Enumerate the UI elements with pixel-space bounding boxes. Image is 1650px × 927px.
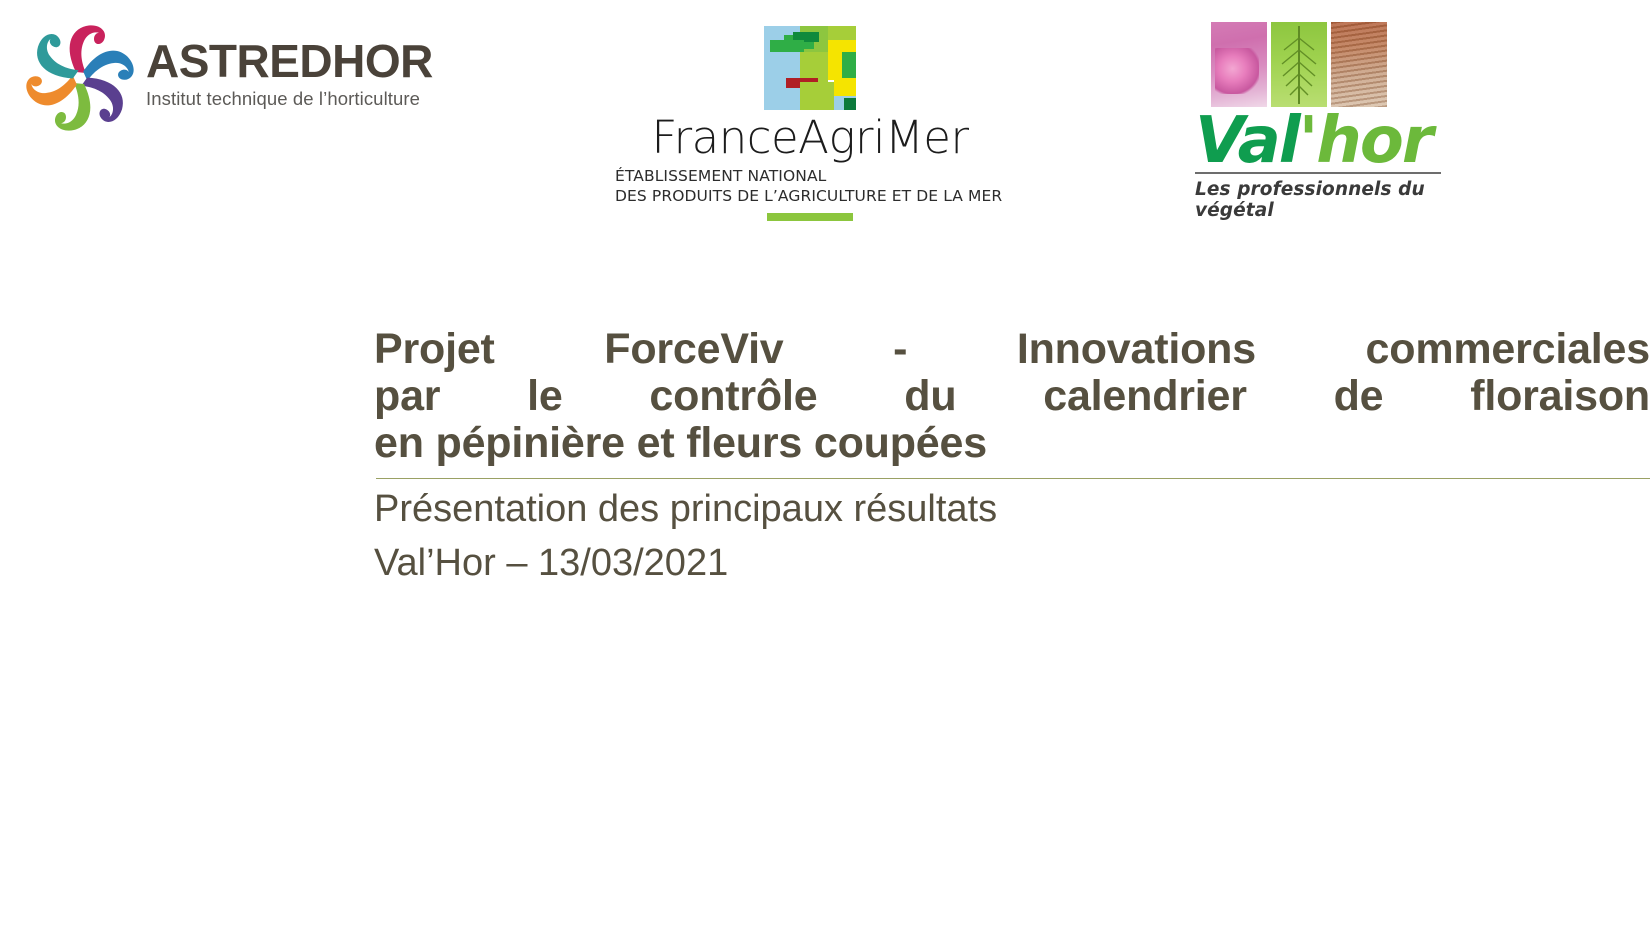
valhor-word-part2: 'hor: [1299, 104, 1432, 178]
flower-panel-icon: [1211, 22, 1267, 107]
logo-band: ASTREDHOR Institut technique de l’hortic…: [0, 0, 1650, 250]
title-block: Projet ForceViv - Innovations commercial…: [374, 326, 1650, 467]
title-line-1: Projet ForceViv - Innovations commercial…: [374, 326, 1650, 373]
title-line-3: en pépinière et fleurs coupées: [374, 420, 1650, 467]
franceagrimer-subtitle-line-1: ÉTABLISSEMENT NATIONAL: [615, 167, 1010, 186]
astredhor-pinwheel-icon: [18, 20, 142, 136]
valhor-word-part1: Val: [1195, 104, 1299, 178]
valhor-logo: Val'hor Les professionnels du végétal: [1195, 22, 1485, 227]
franceagrimer-green-bar: [767, 213, 853, 221]
franceagrimer-subtitle-line-2: DES PRODUITS DE L’AGRICULTURE ET DE LA M…: [615, 187, 1010, 206]
leaf-panel-icon: [1271, 22, 1327, 107]
presentation-slide: ASTREDHOR Institut technique de l’hortic…: [0, 0, 1650, 927]
subtitle-line-2: Val’Hor – 13/03/2021: [374, 536, 1574, 590]
valhor-image-panels: [1211, 22, 1391, 107]
franceagrimer-subtitle: ÉTABLISSEMENT NATIONAL DES PRODUITS DE L…: [610, 167, 1010, 206]
astredhor-wordmark: ASTREDHOR: [146, 38, 456, 84]
astredhor-logo: ASTREDHOR Institut technique de l’hortic…: [18, 18, 458, 128]
title-line-2: par le contrôle du calendrier de florais…: [374, 373, 1650, 420]
franceagrimer-wordmark: FranceAgriMer: [610, 114, 1010, 161]
astredhor-tagline: Institut technique de l’horticulture: [146, 89, 456, 109]
astredhor-text-lockup: ASTREDHOR Institut technique de l’hortic…: [146, 38, 456, 109]
valhor-tagline: Les professionnels du végétal: [1195, 179, 1485, 221]
subtitle-block: Présentation des principaux résultats Va…: [374, 482, 1574, 590]
page-title: Projet ForceViv - Innovations commercial…: [374, 326, 1650, 467]
subtitle-line-1: Présentation des principaux résultats: [374, 482, 1574, 536]
valhor-wordmark: Val'hor: [1195, 109, 1485, 174]
franceagrimer-logo: FranceAgriMer ÉTABLISSEMENT NATIONAL DES…: [610, 26, 1010, 241]
franceagrimer-mosaic-icon: [764, 26, 856, 110]
title-divider: [376, 478, 1650, 479]
bark-panel-icon: [1331, 22, 1387, 107]
